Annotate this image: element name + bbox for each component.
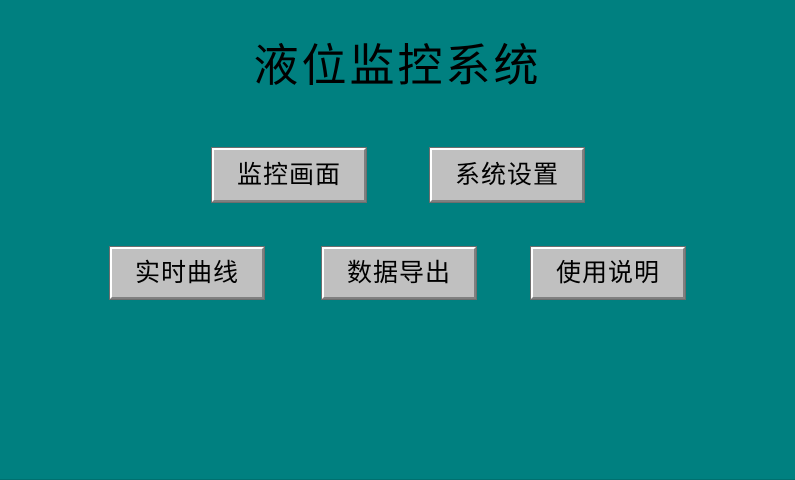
user-manual-button[interactable]: 使用说明 — [531, 247, 685, 299]
system-settings-button[interactable]: 系统设置 — [430, 148, 584, 202]
data-export-button-label: 数据导出 — [347, 259, 451, 287]
page-title: 液位监控系统 — [0, 38, 795, 94]
main-window: 液位监控系统 监控画面 系统设置 实时曲线 数据导出 使用说明 — [0, 0, 795, 480]
realtime-curve-button-label: 实时曲线 — [135, 259, 239, 287]
system-settings-button-label: 系统设置 — [455, 161, 559, 189]
data-export-button[interactable]: 数据导出 — [322, 247, 476, 299]
user-manual-button-label: 使用说明 — [556, 259, 660, 287]
monitor-screen-button[interactable]: 监控画面 — [212, 148, 366, 202]
realtime-curve-button[interactable]: 实时曲线 — [110, 247, 264, 299]
monitor-screen-button-label: 监控画面 — [237, 161, 341, 189]
